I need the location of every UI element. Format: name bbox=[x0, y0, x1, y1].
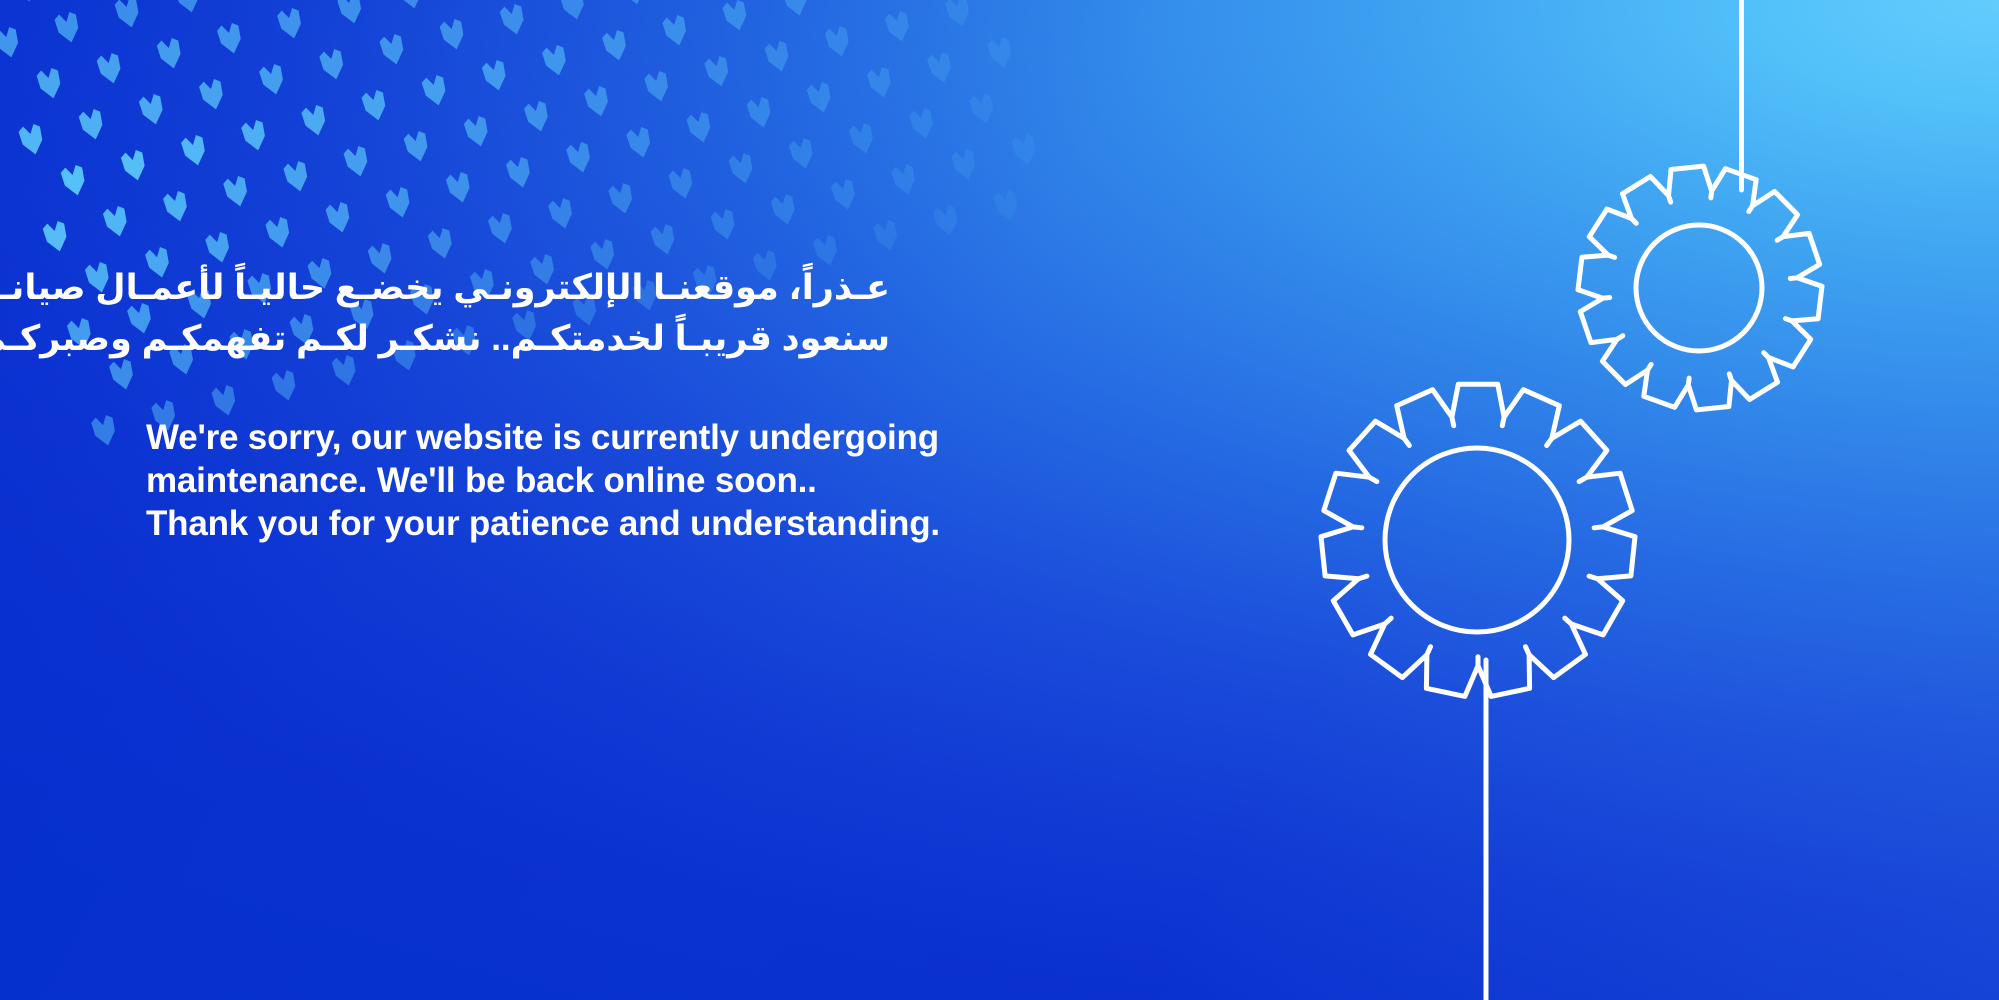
arabic-line-1: عـذراً، موقعنـا الإلكترونـي يخضـع حاليـا… bbox=[146, 262, 890, 313]
english-message: We're sorry, our website is currently un… bbox=[146, 416, 1146, 545]
english-line-2: maintenance. We'll be back online soon.. bbox=[146, 459, 1146, 502]
english-line-3: Thank you for your patience and understa… bbox=[146, 502, 1146, 545]
arabic-message: عـذراً، موقعنـا الإلكترونـي يخضـع حاليـا… bbox=[146, 262, 890, 364]
message-block: عـذراً، موقعنـا الإلكترونـي يخضـع حاليـا… bbox=[146, 262, 1146, 545]
english-line-1: We're sorry, our website is currently un… bbox=[146, 416, 1146, 459]
maintenance-page: عـذراً، موقعنـا الإلكترونـي يخضـع حاليـا… bbox=[0, 0, 1999, 1000]
arabic-line-2: سنعود قريبـاً لخدمتكـم.. نشكـر لكـم تفهم… bbox=[146, 313, 890, 364]
